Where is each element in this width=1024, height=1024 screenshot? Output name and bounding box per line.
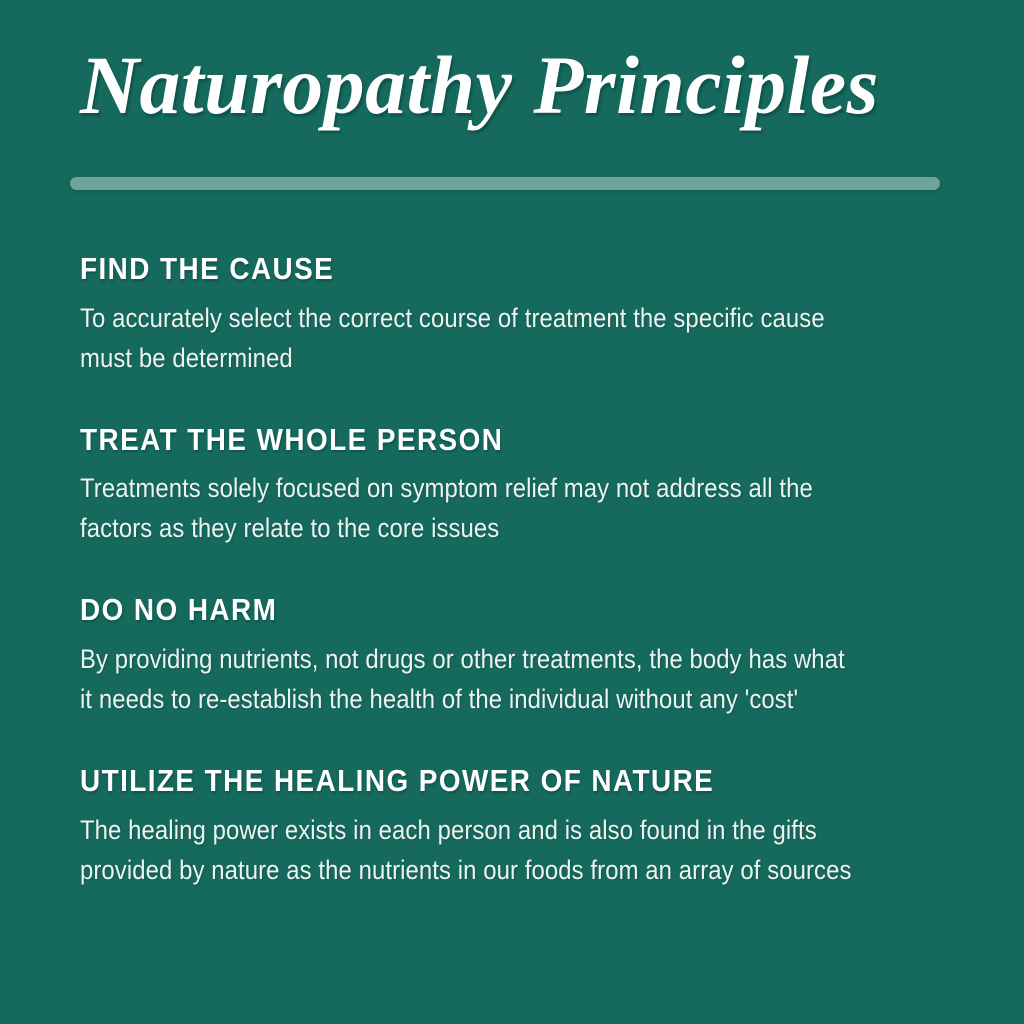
principle-item: DO NO HARM By providing nutrients, not d… <box>80 593 964 719</box>
title-block: Naturopathy Principles <box>80 44 944 127</box>
principle-heading: TREAT THE WHOLE PERSON <box>80 423 876 458</box>
principle-body: Treatments solely focused on symptom rel… <box>80 468 862 548</box>
page-title: Naturopathy Principles <box>80 44 931 127</box>
principle-heading: DO NO HARM <box>80 593 876 628</box>
principle-item: FIND THE CAUSE To accurately select the … <box>80 252 964 378</box>
principle-body: By providing nutrients, not drugs or oth… <box>80 639 862 719</box>
principle-body: The healing power exists in each person … <box>80 810 862 890</box>
principle-body: To accurately select the correct course … <box>80 298 862 378</box>
principle-heading: FIND THE CAUSE <box>80 252 876 287</box>
principles-list: FIND THE CAUSE To accurately select the … <box>80 252 964 890</box>
principle-heading: UTILIZE THE HEALING POWER OF NATURE <box>80 764 876 799</box>
poster-canvas: Naturopathy Principles FIND THE CAUSE To… <box>0 0 1024 1024</box>
principle-item: UTILIZE THE HEALING POWER OF NATURE The … <box>80 764 964 890</box>
principle-item: TREAT THE WHOLE PERSON Treatments solely… <box>80 423 964 549</box>
title-divider-rule <box>70 177 940 190</box>
